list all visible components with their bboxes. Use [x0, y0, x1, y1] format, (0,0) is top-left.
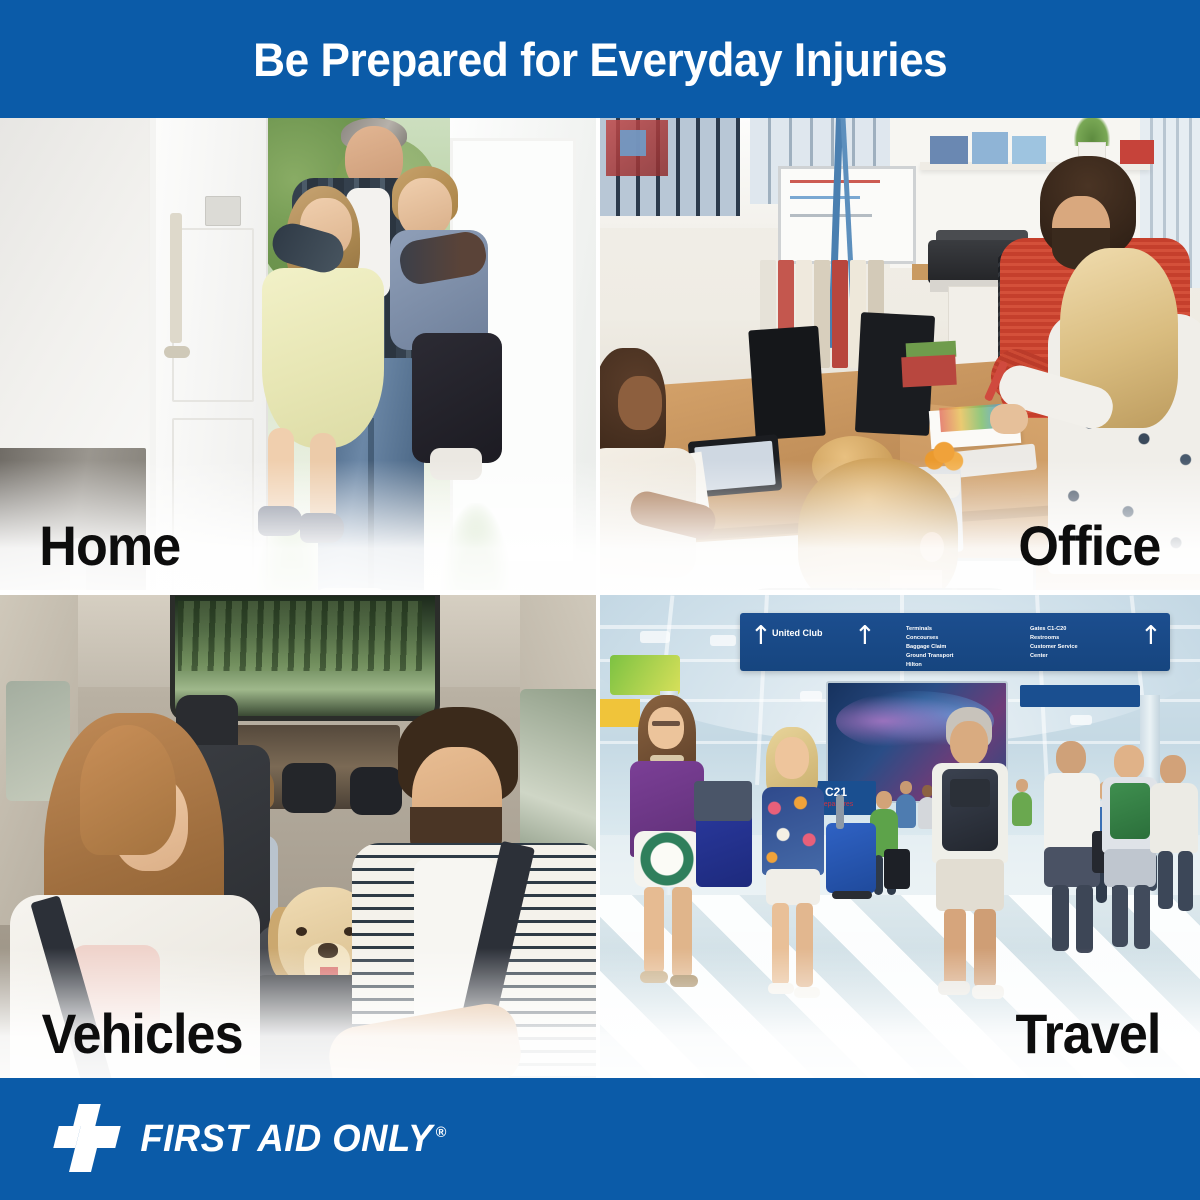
rolling-suitcase [826, 823, 876, 893]
footer-bar: FIRST AID ONLY® [0, 1078, 1200, 1200]
vehicles-photo [0, 595, 596, 1078]
sign-item-ground-transport: Ground Transport [906, 652, 954, 660]
grid-cell-travel: United Club ↑ ↑ ↑ Terminals Concourses B… [600, 595, 1200, 1078]
registered-trademark-symbol: ® [436, 1124, 447, 1141]
brand-logo: FIRST AID ONLY® [56, 1104, 453, 1174]
home-photo [0, 118, 596, 590]
office-photo [600, 118, 1200, 590]
sign-item-terminals: Terminals [906, 625, 932, 633]
sign-item-customer-service: Customer Service [1030, 643, 1078, 651]
arrow-up-icon-left: ↑ [750, 623, 772, 649]
sign-item-gates: Gates C1-C20 [1030, 625, 1066, 633]
sign-title-united-club: United Club [772, 628, 823, 638]
brand-name-text: FIRST AID ONLY [140, 1118, 432, 1160]
brand-name: FIRST AID ONLY® [140, 1118, 446, 1161]
sign-item-concourses: Concourses [906, 634, 938, 642]
travel-photo: United Club ↑ ↑ ↑ Terminals Concourses B… [600, 595, 1200, 1078]
category-grid: Home [0, 118, 1200, 1078]
sign-item-center: Center [1030, 652, 1048, 660]
grid-cell-home: Home [0, 118, 596, 590]
airport-wayfinding-sign [740, 613, 1170, 671]
first-aid-cross-icon [56, 1104, 120, 1174]
header-banner: Be Prepared for Everyday Injuries [0, 0, 1200, 118]
arrow-up-icon-mid: ↑ [854, 623, 876, 649]
sign-item-baggage-claim: Baggage Claim [906, 643, 946, 651]
page-title: Be Prepared for Everyday Injuries [253, 32, 947, 87]
grid-cell-vehicles: Vehicles [0, 595, 596, 1078]
sign-item-hilton: Hilton [906, 661, 922, 669]
marketing-image: Be Prepared for Everyday Injuries [0, 0, 1200, 1200]
sign-item-restrooms: Restrooms [1030, 634, 1059, 642]
grid-cell-office: Office [600, 118, 1200, 590]
arrow-up-icon-right: ↑ [1140, 623, 1162, 649]
